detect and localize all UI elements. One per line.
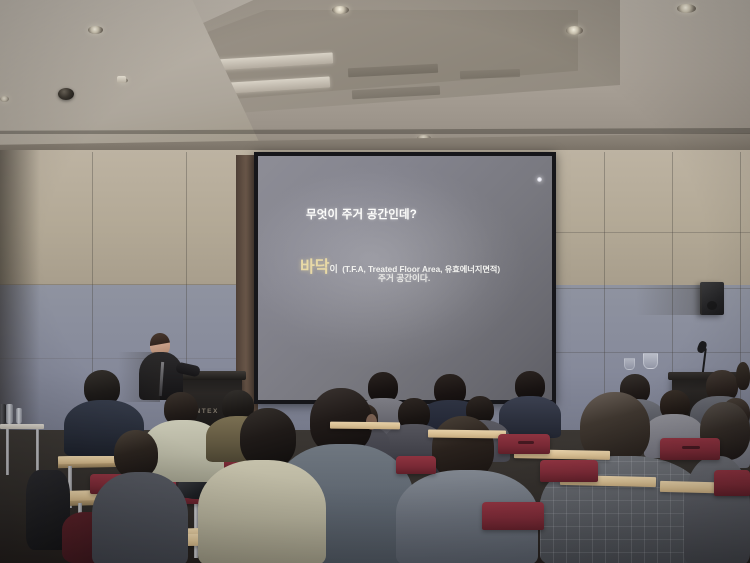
desk	[330, 422, 400, 430]
chair	[714, 470, 750, 496]
water-bottle	[16, 408, 22, 424]
table-leg	[6, 429, 9, 475]
chair	[482, 502, 544, 530]
lecture-hall-photo: 무엇이 주거 공간인데? 바닥이 (T.F.A, Treated Floor A…	[0, 0, 750, 563]
chair-handle-slot	[682, 446, 700, 449]
head	[114, 430, 158, 478]
projector-light-spot-icon	[537, 177, 542, 182]
slide-line-2: 주거 공간이다.	[378, 272, 430, 284]
downlight-icon	[332, 6, 349, 14]
slide-keyword: 바닥	[300, 259, 329, 276]
downlight-icon	[566, 26, 583, 35]
downlight-icon	[677, 4, 696, 13]
speaker-shadow	[636, 285, 702, 315]
wall-shadow-left	[0, 150, 40, 430]
head	[240, 408, 296, 468]
water-glass-icon	[624, 358, 635, 370]
chair	[660, 438, 720, 460]
slide-particle: 이	[329, 264, 337, 274]
chair	[540, 460, 598, 482]
thermos-dark	[0, 404, 6, 424]
panel-joint	[604, 152, 605, 430]
chair	[396, 456, 436, 474]
torso	[198, 460, 326, 563]
chair	[498, 434, 550, 454]
wall-speaker-icon	[700, 282, 724, 315]
water-bottle	[6, 404, 13, 424]
table-leg	[36, 429, 39, 473]
slide-title: 무엇이 주거 공간인데?	[306, 206, 417, 222]
head	[736, 362, 750, 390]
downlight-icon	[88, 26, 103, 34]
desk	[428, 429, 506, 438]
downlight-icon	[0, 96, 9, 102]
chair-handle-slot	[518, 441, 534, 444]
dome-camera-icon	[58, 88, 74, 100]
ceiling-sensor-icon	[117, 76, 126, 83]
water-glass-icon	[643, 353, 658, 369]
panel-joint	[556, 232, 750, 233]
panel-joint	[0, 284, 260, 285]
torso	[92, 472, 188, 563]
speaker-cone-icon	[707, 301, 717, 310]
presenter-shadow	[118, 352, 160, 402]
